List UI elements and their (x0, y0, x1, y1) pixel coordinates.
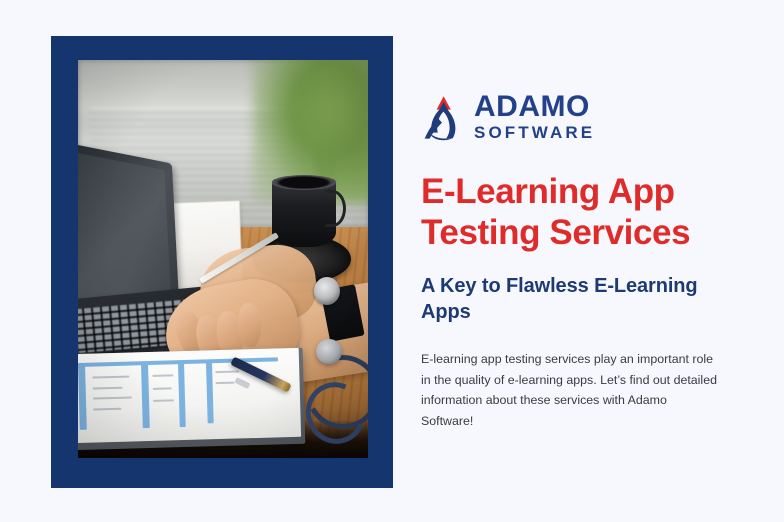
document-page (78, 347, 302, 442)
photo-frame (51, 36, 393, 488)
photo-scene (78, 60, 368, 458)
document-text-line (153, 386, 172, 389)
adamo-software-logo: ADAMO SOFTWARE (421, 92, 741, 142)
document-text-line (153, 374, 174, 377)
document-text-line (216, 381, 235, 384)
document-color-bar (141, 362, 150, 428)
document-color-bar (206, 360, 214, 422)
document-text-line (216, 370, 239, 373)
logo-name-secondary: SOFTWARE (474, 124, 595, 143)
document-text-line (93, 375, 130, 378)
document-text-line (93, 396, 133, 399)
coffee-cup (272, 179, 336, 247)
document-text-line (154, 399, 175, 402)
logo-name-primary: ADAMO (474, 92, 595, 123)
clipboard (78, 347, 305, 449)
content-column: ADAMO SOFTWARE E-Learning App Testing Se… (421, 36, 741, 431)
document-color-bar (78, 364, 87, 430)
body-paragraph: E-learning app testing services play an … (421, 349, 721, 430)
document-text-line (93, 386, 123, 389)
promo-slide: ADAMO SOFTWARE E-Learning App Testing Se… (0, 0, 784, 522)
document-color-bar (178, 361, 186, 427)
logo-wordmark: ADAMO SOFTWARE (474, 92, 595, 142)
page-subtitle: A Key to Flawless E-Learning Apps (421, 273, 741, 325)
adamo-a-logo-mark (421, 93, 465, 141)
coffee-cup-rim (272, 175, 336, 190)
page-title: E-Learning App Testing Services (421, 172, 741, 253)
stethoscope-chestpiece (316, 339, 342, 365)
photo-image (78, 60, 368, 458)
document-text-line (93, 407, 121, 410)
